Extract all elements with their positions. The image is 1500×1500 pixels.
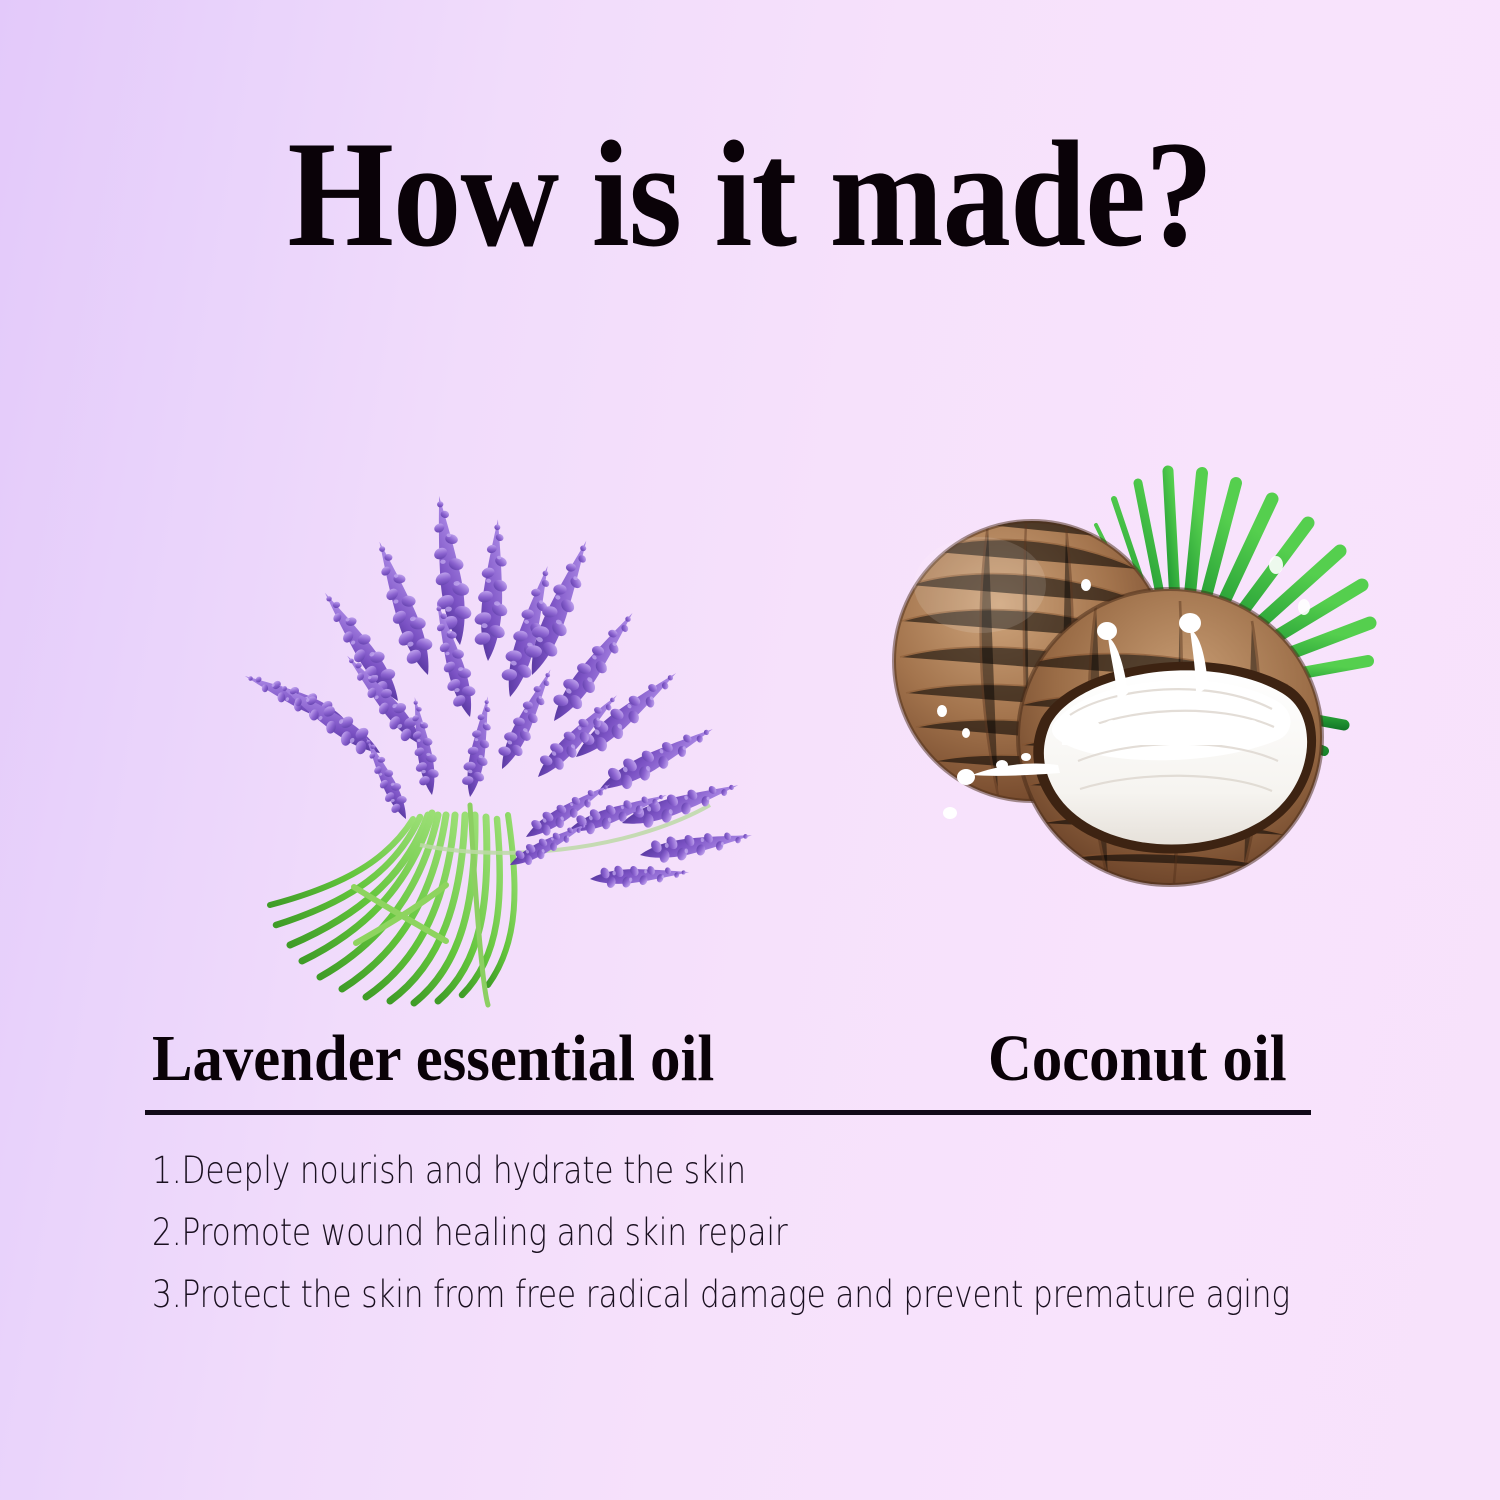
benefits-list: 1.Deeply nourish and hydrate the skin 2.… <box>152 1152 1402 1338</box>
lavender-bouquet-image <box>170 345 710 1005</box>
benefit-item-2: 2.Promote wound healing and skin repair <box>152 1214 1208 1251</box>
benefit-item-1: 1.Deeply nourish and hydrate the skin <box>152 1152 1208 1189</box>
caption-lavender-essential-oil: Lavender essential oil <box>152 1026 714 1092</box>
section-divider <box>145 1110 1311 1115</box>
product-infographic-page: How is it made? <box>0 0 1500 1500</box>
benefit-item-3: 3.Protect the skin from free radical dam… <box>152 1276 1208 1313</box>
coconut-halves-image <box>880 465 1370 930</box>
page-title: How is it made? <box>75 118 1425 270</box>
caption-coconut-oil: Coconut oil <box>988 1026 1287 1092</box>
